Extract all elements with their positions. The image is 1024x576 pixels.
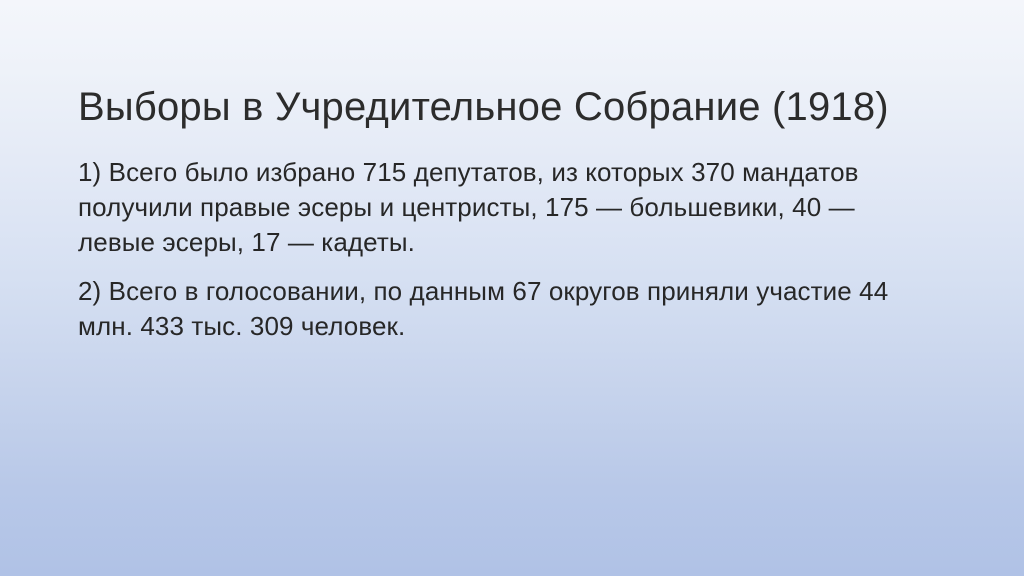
slide-canvas: Выборы в Учредительное Собрание (1918) 1… <box>0 0 1024 576</box>
slide-body: 1) Всего было избрано 715 депутатов, из … <box>78 155 898 344</box>
body-paragraph-2: 2) Всего в голосовании, по данным 67 окр… <box>78 274 898 344</box>
body-paragraph-1: 1) Всего было избрано 715 депутатов, из … <box>78 155 898 260</box>
page-title: Выборы в Учредительное Собрание (1918) <box>78 84 958 131</box>
